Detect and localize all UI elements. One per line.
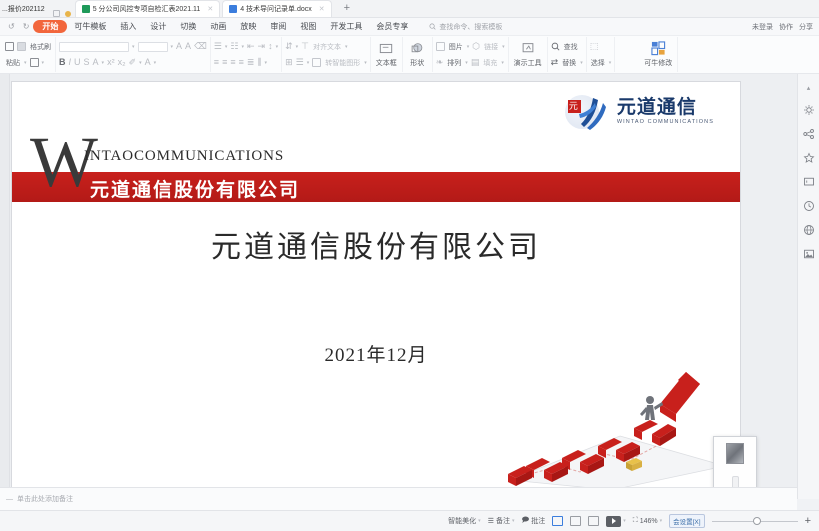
- banner-english-text: INTAOCOMMUNICATIONS: [84, 148, 284, 165]
- company-logo: 元道通信 WINTAO COMMUNICATIONS: [565, 92, 714, 132]
- status-right: 智能美化 ▾ ☰ 备注 ▾ 🗩 批注 ▾ ⛶ 146% ▾: [448, 514, 819, 528]
- fill-label[interactable]: 填充: [482, 58, 498, 68]
- columns2-icon[interactable]: ☰: [296, 58, 304, 67]
- keniu-label: 可牛修改: [644, 58, 672, 68]
- tab-bar-icons: [49, 10, 75, 17]
- status-bar: 智能美化 ▾ ☰ 备注 ▾ 🗩 批注 ▾ ⛶ 146% ▾: [0, 510, 819, 531]
- replace-icon[interactable]: ⇄: [551, 58, 559, 67]
- textbox-label: 文本框: [376, 58, 397, 68]
- chevron-down-icon[interactable]: ▾: [265, 60, 268, 66]
- clear-format-icon[interactable]: ⌫: [194, 42, 207, 51]
- slide-banner: W INTAOCOMMUNICATIONS 元道通信股份有限公司: [12, 134, 740, 192]
- char-shading-icon[interactable]: A: [145, 58, 151, 67]
- chevron-down-icon[interactable]: ▾: [171, 44, 174, 50]
- toolbar-group-paragraph: ☰ ▾ ☷ ▾ ⇤ ⇥ ↕ ▾ ≡ ≡ ≡ ≡ ≣ ⫼ ▾: [211, 37, 282, 72]
- select-label[interactable]: 选择: [590, 58, 606, 68]
- ribbon-tab-member[interactable]: 会员专享: [369, 20, 415, 33]
- toolbar-keniu-button[interactable]: 可牛修改: [639, 37, 678, 72]
- chevron-down-icon[interactable]: ▾: [501, 60, 504, 66]
- ribbon-tab-review[interactable]: 审阅: [263, 20, 293, 33]
- clock-icon[interactable]: [802, 199, 815, 212]
- chevron-down-icon[interactable]: ▾: [132, 44, 135, 50]
- share-label[interactable]: 分享: [799, 22, 813, 32]
- shapes-label: 形状: [410, 58, 424, 68]
- search-icon: [429, 23, 436, 30]
- present-tools-icon: [520, 41, 535, 56]
- comment-icon: 🗩: [521, 516, 529, 527]
- beautify-button[interactable]: 智能美化 ▾: [448, 516, 481, 526]
- logo-en-text: WINTAO COMMUNICATIONS: [617, 120, 714, 126]
- chevron-down-icon[interactable]: ▾: [102, 60, 105, 66]
- tab-status-dot-icon: [65, 11, 71, 17]
- chevron-down-icon[interactable]: ▾: [580, 60, 583, 66]
- notes-placeholder: 单击此处添加备注: [17, 494, 73, 504]
- redo-icon[interactable]: ↻: [19, 22, 34, 31]
- logo-mark-icon: [565, 92, 611, 132]
- logo-cn-text: 元道通信: [617, 98, 714, 117]
- close-icon[interactable]: ✕: [207, 5, 213, 13]
- decrease-font-size-icon[interactable]: A: [185, 42, 191, 51]
- picture-icon[interactable]: [436, 42, 445, 51]
- notes-toggle-icon: ☰: [488, 517, 494, 525]
- notes-pane[interactable]: — 单击此处添加备注: [0, 487, 797, 510]
- account-label[interactable]: 未登录: [752, 22, 773, 32]
- view-slide-sorter-button[interactable]: [570, 516, 581, 526]
- toolbar-group-font: ▾ ▾ A A ⌫ B I U S A ▾ x² x₂ ✐ ▾ A ▾: [56, 37, 211, 72]
- toolbar-group-media: 图片 ▾ ⬡ 链接 ▾ ❧ 排列 ▾ ▤ 填充 ▾: [433, 37, 509, 72]
- chevron-down-icon[interactable]: ▾: [609, 60, 612, 66]
- arrange-icon[interactable]: ❧: [436, 58, 444, 67]
- chevron-down-icon[interactable]: ▾: [623, 518, 626, 524]
- toolbar-textbox-button[interactable]: 文本框: [371, 37, 403, 72]
- document-tab-1-label: 5 分公司风控专项自检汇表2021.11: [93, 4, 201, 14]
- comments-button[interactable]: 🗩 批注: [521, 516, 545, 527]
- chart-artwork: [500, 362, 730, 492]
- ribbon-toolbar: 格式刷 粘贴 ▾ ▾ ▾ ▾ A A ⌫ B I U: [0, 36, 819, 74]
- collapse-sidebar-icon[interactable]: ▴: [807, 84, 811, 92]
- zoom-slider[interactable]: [712, 521, 798, 522]
- chevron-down-icon[interactable]: ▾: [660, 518, 663, 524]
- font-name-input[interactable]: [59, 42, 129, 52]
- fit-window-icon: ⛶: [633, 517, 638, 525]
- right-sidebar: ▴: [797, 74, 819, 499]
- app-title-fragment: ...报价202112: [0, 1, 49, 17]
- bold-icon[interactable]: B: [59, 58, 66, 67]
- link-icon[interactable]: ⬡: [472, 42, 480, 51]
- globe-icon[interactable]: [802, 223, 815, 236]
- chevron-down-icon[interactable]: ▾: [502, 44, 505, 50]
- slide-thumbnail-pane[interactable]: [0, 74, 10, 499]
- fill-icon[interactable]: ▤: [471, 58, 480, 67]
- zoom-in-button[interactable]: +: [805, 516, 811, 527]
- link-label[interactable]: 链接: [483, 42, 499, 52]
- chevron-down-icon[interactable]: ▾: [478, 518, 481, 524]
- chevron-down-icon[interactable]: ▾: [139, 60, 142, 66]
- convert-smartart-icon[interactable]: ⊞: [285, 58, 293, 67]
- toolbar-group-editing: 查找 ⇄ 替换 ▾: [548, 37, 587, 72]
- undo-icon[interactable]: ↺: [4, 22, 19, 31]
- slide-title[interactable]: 元道通信股份有限公司: [12, 222, 740, 266]
- slide-1: 元道通信 WINTAO COMMUNICATIONS W INTAOCOMMUN…: [12, 82, 740, 492]
- comments-label: 批注: [531, 516, 545, 526]
- ribbon-tab-keniu-template[interactable]: 可牛模板: [67, 20, 113, 33]
- align-text-label[interactable]: 对齐文本: [312, 42, 342, 52]
- italic-icon[interactable]: I: [69, 58, 72, 67]
- slide-work-area: 元道通信 WINTAO COMMUNICATIONS W INTAOCOMMUN…: [0, 74, 819, 499]
- align-left-icon[interactable]: ≡: [214, 58, 219, 67]
- command-search-placeholder: 查找命令、搜索模板: [439, 22, 502, 32]
- chevron-down-icon[interactable]: ▾: [296, 44, 299, 50]
- numbered-list-icon[interactable]: ☷: [230, 42, 238, 51]
- close-icon[interactable]: ✕: [319, 5, 325, 13]
- columns-icon[interactable]: ⫼: [257, 58, 261, 67]
- document-tab-2-label: 4 技术导问记录单.docx: [240, 4, 312, 14]
- chevron-down-icon[interactable]: ▾: [512, 518, 515, 524]
- ribbon-tab-home[interactable]: 开始: [33, 20, 67, 33]
- ribbon-tab-transition[interactable]: 切换: [173, 20, 203, 33]
- chevron-down-icon[interactable]: ▾: [154, 60, 157, 66]
- smartart-icon[interactable]: [312, 58, 321, 67]
- chevron-down-icon[interactable]: ▾: [467, 44, 470, 50]
- highlight-icon[interactable]: ✐: [129, 58, 137, 67]
- media-thumbnail-icon: [726, 443, 744, 464]
- app-title-text: ...报价202112: [2, 4, 45, 14]
- font-size-input[interactable]: [138, 42, 168, 52]
- slideshow-button[interactable]: ▾: [606, 516, 626, 527]
- keniu-icon: [651, 41, 666, 56]
- collab-label[interactable]: 协作: [779, 22, 793, 32]
- format-painter-label[interactable]: 格式刷: [29, 42, 52, 52]
- chevron-down-icon[interactable]: ▾: [465, 60, 468, 66]
- bullet-list-icon[interactable]: ☰: [214, 42, 222, 51]
- justify-icon[interactable]: ≡: [239, 58, 244, 67]
- superscript-icon[interactable]: x²: [107, 58, 115, 67]
- shapes-icon: [410, 41, 425, 56]
- document-tab-1[interactable]: 5 分公司风控专项自检汇表2021.11 ✕: [75, 0, 221, 17]
- increase-indent-icon[interactable]: ⇥: [258, 42, 266, 51]
- chevron-down-icon[interactable]: ▾: [225, 44, 228, 50]
- arrange-label[interactable]: 排列: [446, 58, 462, 68]
- find-label[interactable]: 查找: [563, 42, 579, 52]
- image-icon[interactable]: [802, 247, 815, 260]
- tab-restore-icon[interactable]: [53, 10, 60, 17]
- slide-canvas[interactable]: 元道通信 WINTAO COMMUNICATIONS W INTAOCOMMUN…: [12, 82, 740, 492]
- chevron-down-icon[interactable]: ▾: [241, 44, 244, 50]
- command-search[interactable]: 查找命令、搜索模板: [429, 22, 502, 32]
- chevron-down-icon[interactable]: ▾: [42, 60, 45, 66]
- chevron-down-icon[interactable]: ▾: [24, 60, 27, 66]
- ribbon-tab-animation[interactable]: 动画: [203, 20, 233, 33]
- toolbar-group-clipboard: 格式刷 粘贴 ▾ ▾: [2, 37, 56, 72]
- paste-icon[interactable]: [5, 42, 14, 51]
- zoom-level-label: 146%: [640, 518, 658, 525]
- document-tab-2[interactable]: 4 技术导问记录单.docx ✕: [222, 0, 331, 17]
- logo-swoosh-icon: [577, 94, 607, 130]
- play-icon: [606, 516, 621, 527]
- search-icon[interactable]: [551, 38, 560, 56]
- select-icon[interactable]: ⬚: [590, 42, 599, 51]
- document-tab-bar: ...报价202112 5 分公司风控专项自检汇表2021.11 ✕ 4 技术导…: [0, 0, 819, 18]
- ribbon-tab-insert[interactable]: 插入: [113, 20, 143, 33]
- ribbon-tab-view[interactable]: 视图: [293, 20, 323, 33]
- view-reading-button[interactable]: [588, 516, 599, 526]
- align-center-icon[interactable]: ≡: [222, 58, 227, 67]
- replace-label[interactable]: 替换: [561, 58, 577, 68]
- toolbar-group-direction: ⇵ ▾ ⊤ 对齐文本 ▾ ⊞ ☰ ▾ 转智能图形 ▾: [282, 37, 371, 72]
- word-icon: [229, 5, 237, 13]
- new-tab-button[interactable]: +: [334, 0, 360, 17]
- align-right-icon[interactable]: ≡: [230, 58, 235, 67]
- wps-presentation-window: ...报价202112 5 分公司风控专项自检汇表2021.11 ✕ 4 技术导…: [0, 0, 819, 531]
- chevron-down-icon[interactable]: ▾: [345, 44, 348, 50]
- chevron-down-icon[interactable]: ▾: [276, 44, 279, 50]
- paste-label[interactable]: 粘贴: [5, 58, 21, 68]
- subscript-icon[interactable]: x₂: [118, 58, 126, 67]
- align-text-icon[interactable]: ⊤: [301, 42, 309, 51]
- ribbon-tab-slideshow[interactable]: 放映: [233, 20, 263, 33]
- zoom-slider-knob[interactable]: [753, 517, 761, 525]
- ribbon-tab-developer[interactable]: 开发工具: [323, 20, 369, 33]
- textbox-icon: [379, 41, 394, 56]
- ribbon-tab-design[interactable]: 设计: [143, 20, 173, 33]
- decrease-indent-icon[interactable]: ⇤: [247, 42, 255, 51]
- line-spacing-icon[interactable]: ↕: [268, 42, 273, 51]
- new-slide-icon[interactable]: [30, 58, 39, 67]
- chevron-down-icon[interactable]: ▾: [307, 60, 310, 66]
- picture-label[interactable]: 图片: [448, 42, 464, 52]
- text-direction-icon[interactable]: ⇵: [285, 42, 293, 51]
- notes-label: 备注: [496, 516, 510, 526]
- excel-icon: [82, 5, 90, 13]
- toolbar-present-tools-button[interactable]: 演示工具: [509, 37, 548, 72]
- present-icon[interactable]: [802, 175, 815, 188]
- logo-text: 元道通信 WINTAO COMMUNICATIONS: [617, 98, 714, 126]
- view-normal-button[interactable]: [552, 516, 563, 526]
- distribute-icon[interactable]: ≣: [247, 58, 255, 67]
- present-tools-label: 演示工具: [514, 58, 542, 68]
- chevron-down-icon[interactable]: ▾: [364, 60, 367, 66]
- strikethrough-icon[interactable]: S: [84, 58, 90, 67]
- toolbar-shapes-button[interactable]: 形状: [403, 37, 433, 72]
- ribbon-tab-bar: ↺ ↻ 开始 可牛模板 插入 设计 切换 动画 放映 审阅 视图 开发工具 会员…: [0, 18, 819, 36]
- smartart-label[interactable]: 转智能图形: [324, 58, 361, 68]
- fit-settings-button[interactable]: 会设置[X]: [669, 514, 704, 528]
- increase-font-size-icon[interactable]: A: [176, 42, 182, 51]
- share-node-icon[interactable]: [802, 127, 815, 140]
- titlebar-right-actions: 未登录 协作 分享: [752, 22, 819, 32]
- notes-collapse-icon[interactable]: —: [6, 496, 13, 503]
- toolbar-group-select: ⬚ 选择 ▾: [587, 37, 616, 72]
- gear-ai-icon[interactable]: [802, 103, 815, 116]
- underline-icon[interactable]: U: [74, 58, 81, 67]
- beautify-label: 智能美化: [448, 516, 476, 526]
- format-painter-icon[interactable]: [17, 42, 26, 51]
- banner-chinese-text: 元道通信股份有限公司: [90, 175, 300, 202]
- star-icon[interactable]: [802, 151, 815, 164]
- fit-to-window-button[interactable]: ⛶ 146% ▾: [633, 517, 662, 525]
- text-color-icon[interactable]: A: [93, 58, 99, 67]
- notes-button[interactable]: ☰ 备注 ▾: [488, 516, 515, 526]
